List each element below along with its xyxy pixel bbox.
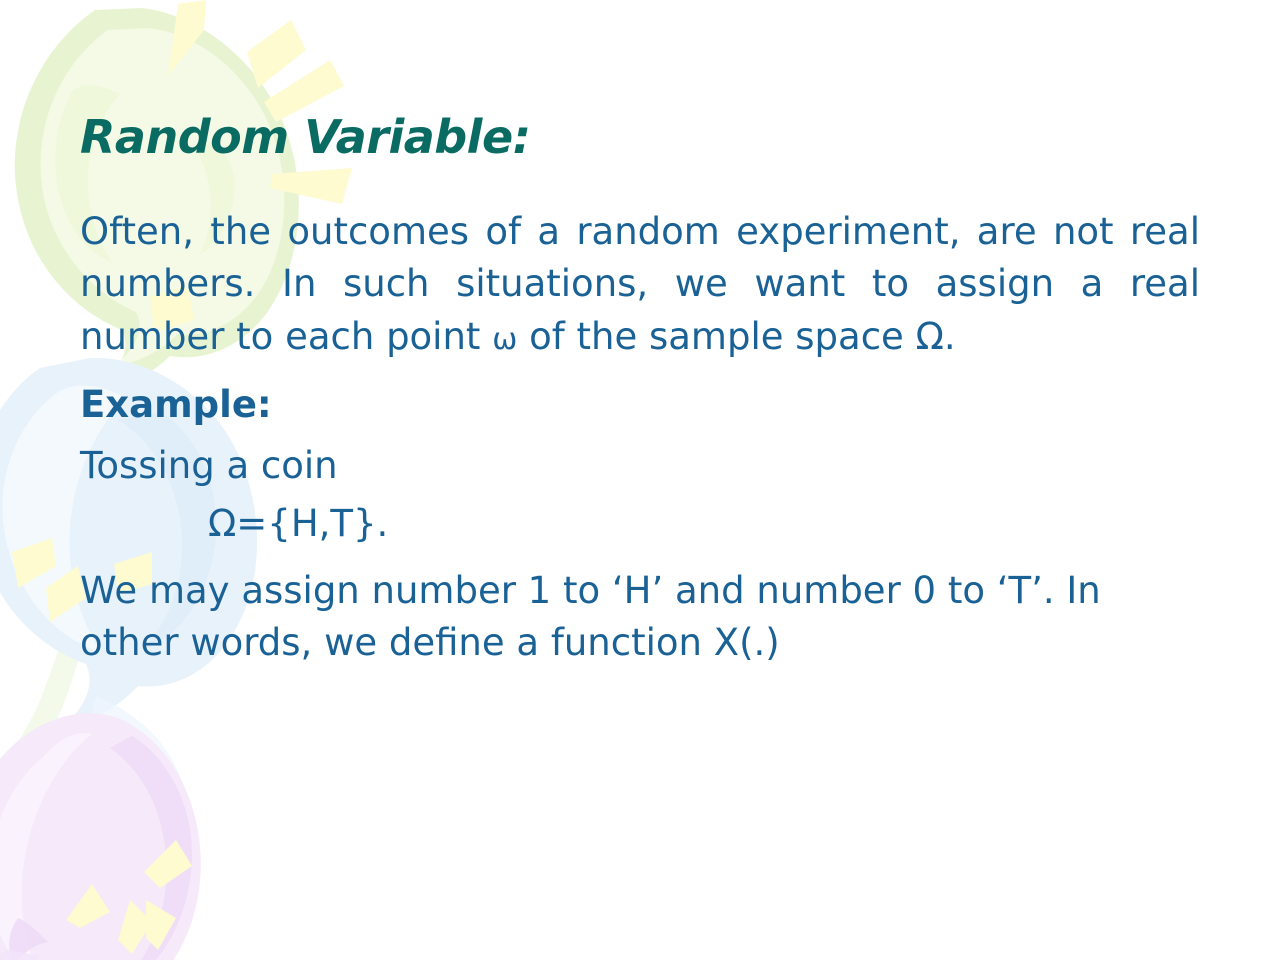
- omega-uppercase-symbol: Ω: [916, 315, 944, 358]
- omega-lowercase-symbol: ω: [492, 322, 517, 357]
- intro-text-after: .: [944, 315, 956, 358]
- tossing-a-coin-line: Tossing a coin: [80, 440, 1200, 493]
- final-paragraph: We may assign number 1 to ‘H’ and number…: [80, 565, 1190, 670]
- slide-canvas: Random Variable: Often, the outcomes of …: [0, 0, 1280, 960]
- slide-content: Random Variable: Often, the outcomes of …: [80, 112, 1200, 670]
- purple-balloon: [0, 713, 201, 960]
- intro-text-middle: of the sample space: [517, 315, 915, 358]
- sparkle-rays-bottom: [64, 840, 216, 956]
- intro-paragraph: Often, the outcomes of a random experime…: [80, 206, 1200, 364]
- example-heading: Example:: [80, 379, 1200, 432]
- page-title: Random Variable:: [80, 112, 1200, 164]
- sample-space-equation: Ω={H,T}.: [80, 498, 1200, 551]
